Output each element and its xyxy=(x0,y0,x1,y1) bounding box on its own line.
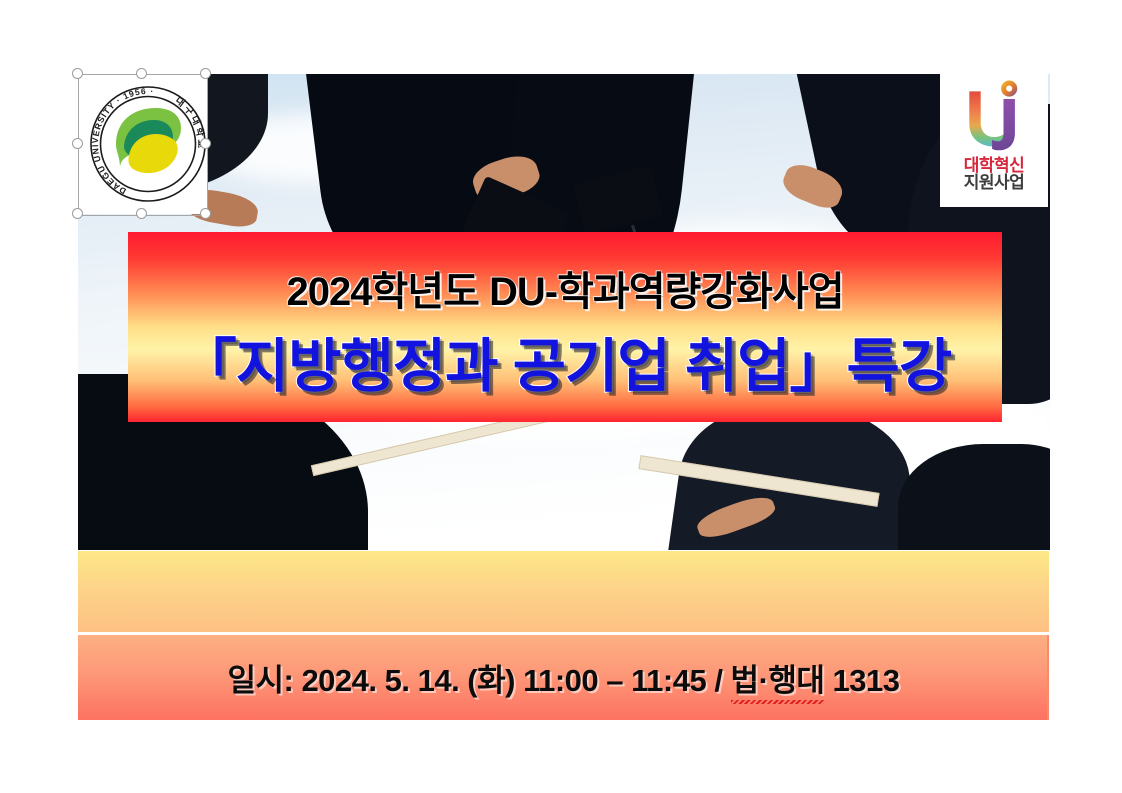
title-banner: 2024학년도 DU-학과역량강화사업 「지방행정과 공기업 취업」특강 xyxy=(128,232,1002,422)
ui-logo-line1: 대학혁신 xyxy=(964,157,1025,174)
daegu-university-emblem-icon: 대 구 대 학 교 DAEGU UNIVERSITY · 1956 · xyxy=(86,82,210,206)
selection-handle-middle-left[interactable] xyxy=(72,138,83,149)
ui-monogram-icon xyxy=(956,80,1032,156)
room-number: 1313 xyxy=(824,663,899,698)
event-poster: 대 구 대 학 교 DAEGU UNIVERSITY · 1956 · xyxy=(0,0,1122,793)
ui-logo-text: 대학혁신 지원사업 xyxy=(964,157,1025,192)
ui-logo-line2: 지원사업 xyxy=(964,174,1025,191)
schedule-band: 일시: 2024. 5. 14. (화) 11:00 – 11:45 / 법·행… xyxy=(78,635,1049,720)
university-innovation-logo[interactable]: 대학혁신 지원사업 xyxy=(940,74,1048,207)
yellow-band xyxy=(78,551,1049,632)
title-line-2: 「지방행정과 공기업 취업」특강 xyxy=(179,319,952,403)
daegu-university-logo[interactable]: 대 구 대 학 교 DAEGU UNIVERSITY · 1956 · xyxy=(78,74,208,214)
title-line-1: 2024학년도 DU-학과역량강화사업 xyxy=(287,259,844,317)
selection-handle-top-center[interactable] xyxy=(136,68,147,79)
selection-handle-bottom-left[interactable] xyxy=(72,208,83,219)
band-right-edge xyxy=(1047,635,1049,720)
selection-handle-bottom-right[interactable] xyxy=(200,208,211,219)
selection-handle-middle-right[interactable] xyxy=(200,138,211,149)
selection-handle-bottom-center[interactable] xyxy=(136,208,147,219)
schedule-text: 일시: 2024. 5. 14. (화) 11:00 – 11:45 / 법·행… xyxy=(227,655,899,700)
venue-name: 법·행대 xyxy=(731,655,825,700)
selection-handle-top-right[interactable] xyxy=(200,68,211,79)
schedule-prefix: 일시: 2024. 5. 14. (화) 11:00 – 11:45 / xyxy=(227,663,730,698)
selection-handle-top-left[interactable] xyxy=(72,68,83,79)
